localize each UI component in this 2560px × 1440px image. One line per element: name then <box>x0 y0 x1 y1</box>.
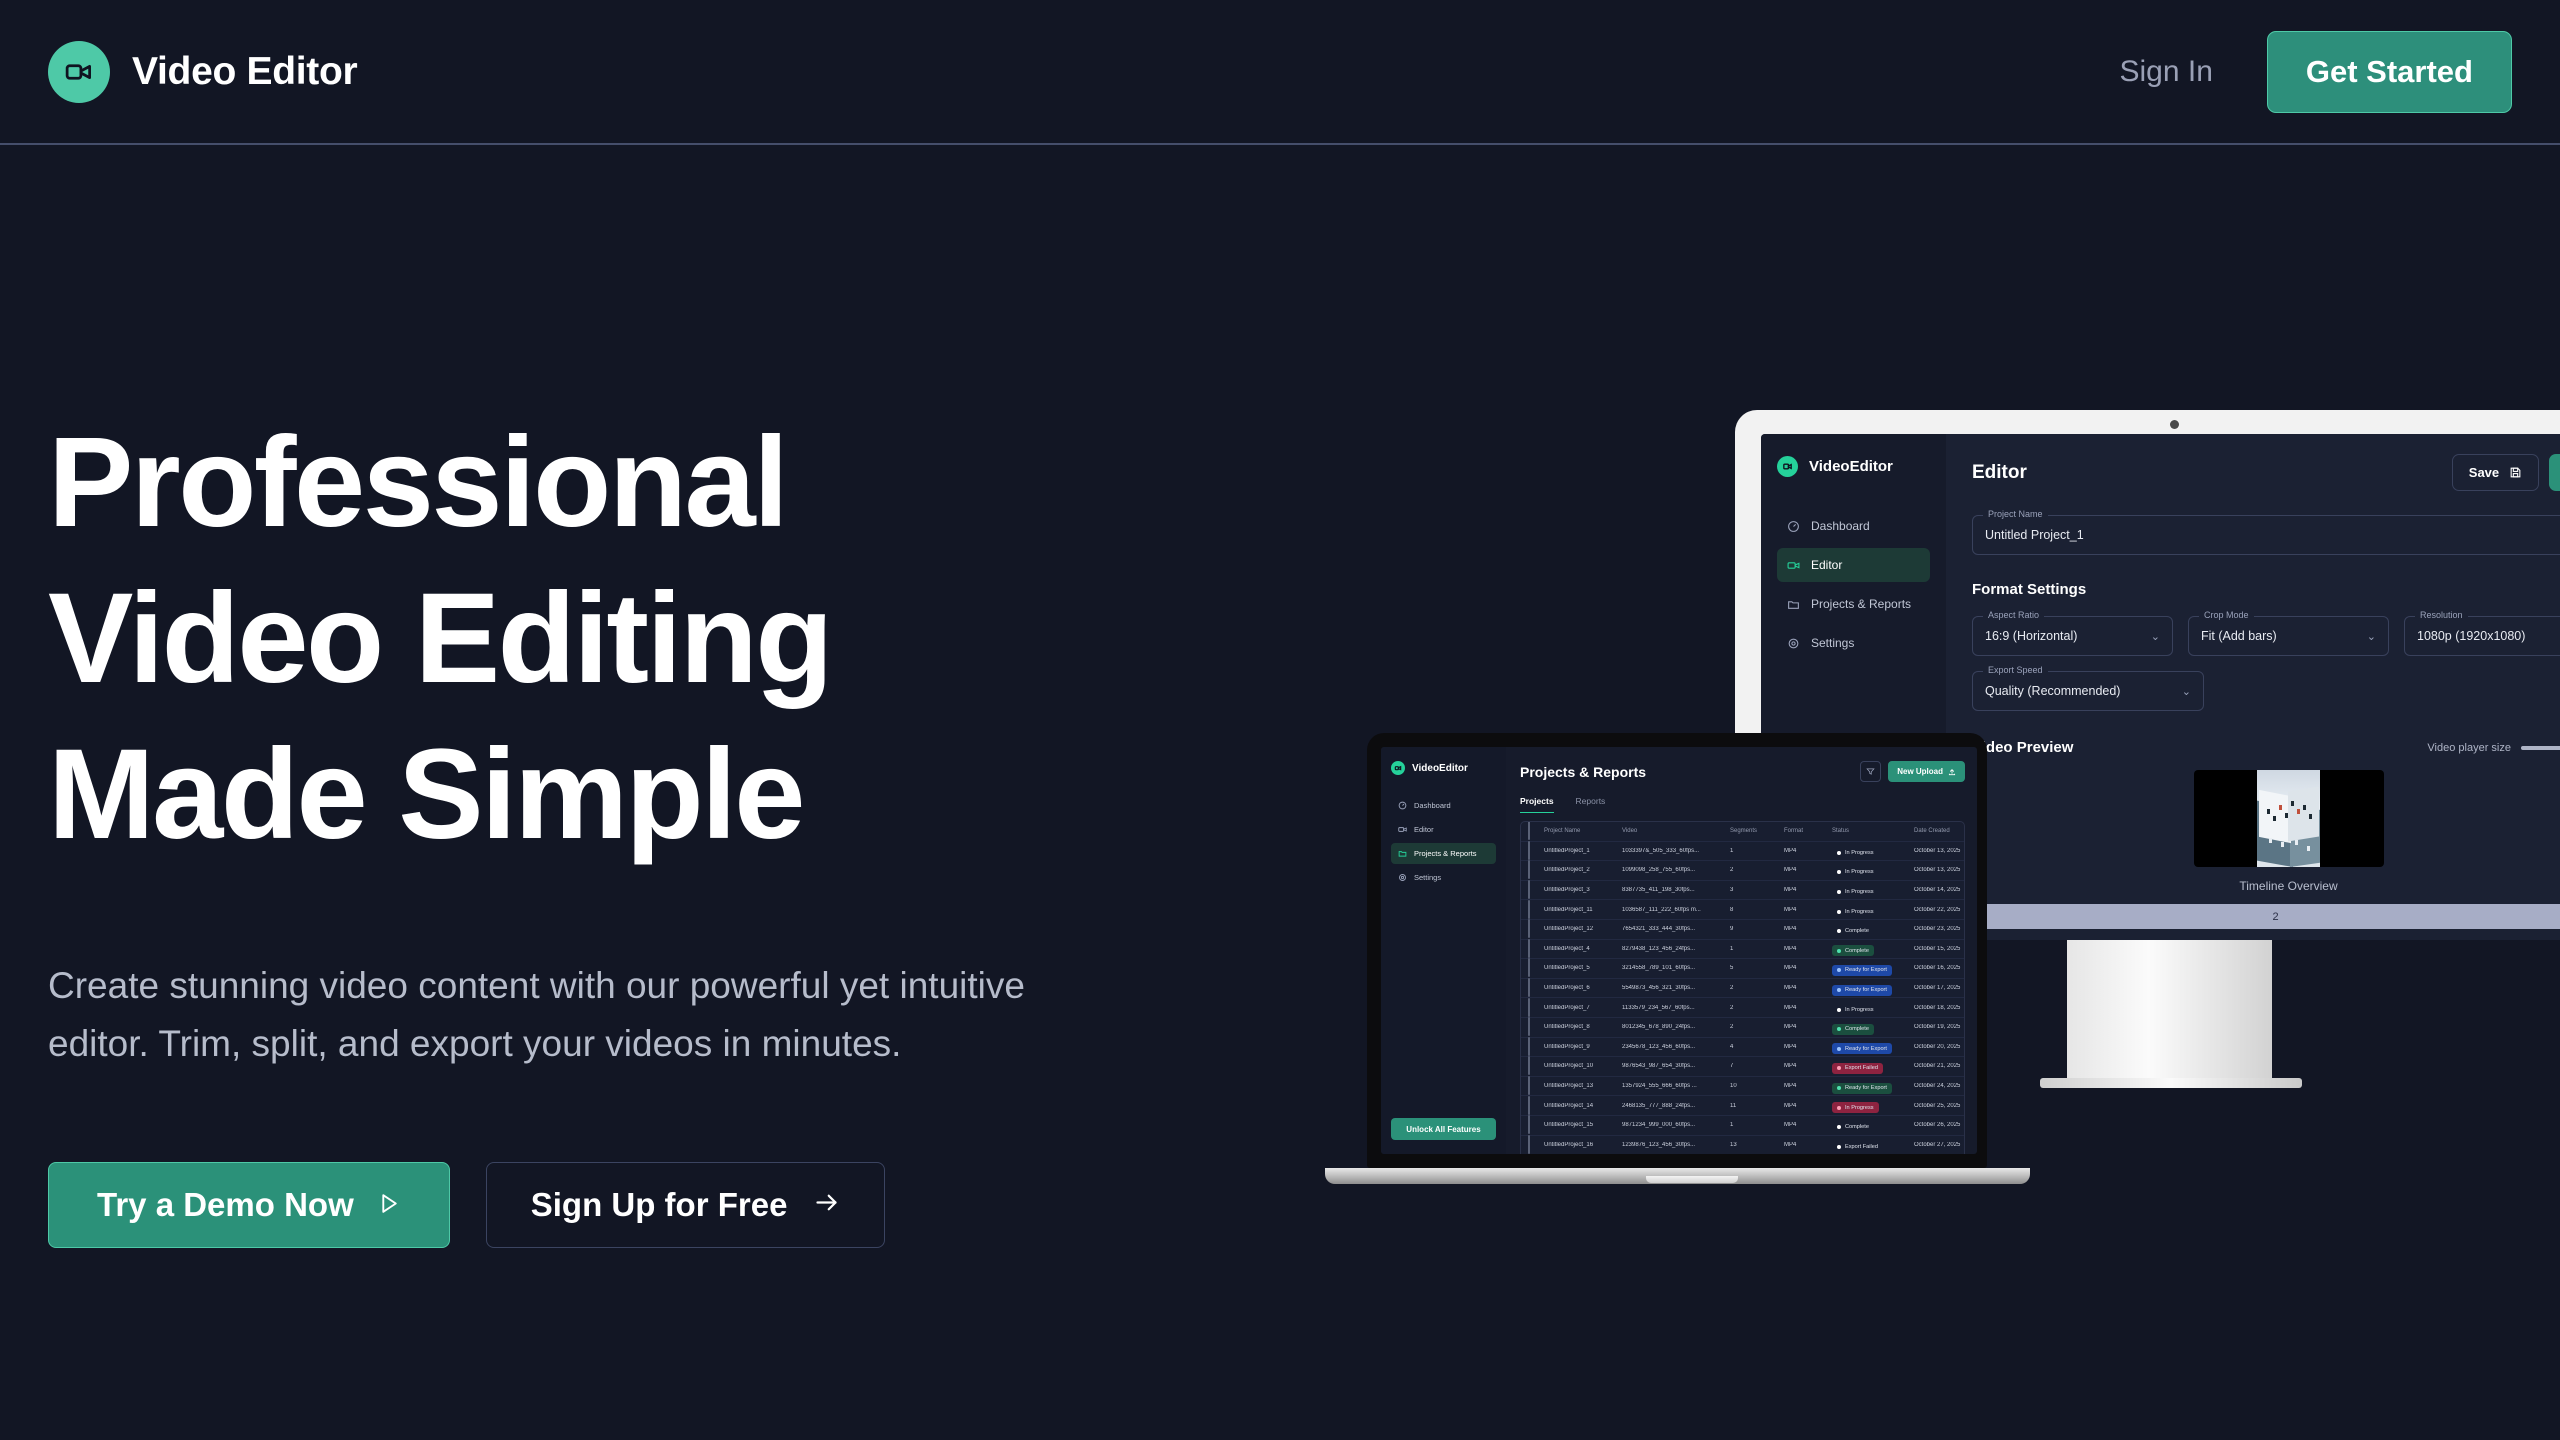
projects-table: Project Name Video Segments Format Statu… <box>1520 821 1965 1154</box>
cell-date-created: October 16, 2025 <box>1914 965 1965 971</box>
cell-video: 7654321_333_444_30fps... <box>1622 926 1730 932</box>
sign-in-button[interactable]: Sign In <box>2119 55 2212 89</box>
projects-tabs: Projects Reports <box>1520 796 1977 813</box>
cell-video: 8279438_123_456_24fps... <box>1622 946 1730 952</box>
cell-video: 2468135_777_888_24fps... <box>1622 1103 1730 1109</box>
crop-mode-value: Fit (Add bars) <box>2201 629 2277 643</box>
status-badge: Export Failed <box>1832 1141 1883 1152</box>
sidebar-label-dashboard: Dashboard <box>1811 519 1870 533</box>
row-checkbox[interactable] <box>1528 860 1530 879</box>
editor-app-name: VideoEditor <box>1809 458 1893 475</box>
unlock-all-features-button[interactable]: Unlock All Features <box>1391 1118 1496 1140</box>
cell-status: In Progress <box>1832 1097 1914 1115</box>
chevron-down-icon: ⌄ <box>2367 630 2376 643</box>
cell-project-name: UntitledProject_1 <box>1544 848 1622 854</box>
column-header-date-created[interactable]: Date Created <box>1914 828 1965 834</box>
video-icon <box>1787 559 1800 572</box>
cell-segments: 8 <box>1730 907 1784 913</box>
row-checkbox[interactable] <box>1528 1037 1530 1056</box>
folder-icon <box>1787 598 1800 611</box>
cell-date-created: October 21, 2025 <box>1914 1063 1965 1069</box>
row-checkbox[interactable] <box>1528 1135 1530 1154</box>
project-name-label: Project Name <box>1983 509 2048 519</box>
column-header-status[interactable]: Status <box>1832 828 1914 834</box>
table-row[interactable]: UntitledProject_88012345_678_890_24fps..… <box>1521 1018 1964 1038</box>
projects-sidebar: VideoEditor Dashboard Editor <box>1381 747 1506 1154</box>
status-badge: Complete <box>1832 1024 1874 1035</box>
cell-segments: 4 <box>1730 1044 1784 1050</box>
tab-projects[interactable]: Projects <box>1520 796 1554 813</box>
row-checkbox[interactable] <box>1528 900 1530 919</box>
export-button[interactable]: Exp <box>2549 454 2560 491</box>
sidebar-label-settings: Settings <box>1811 636 1854 650</box>
cell-project-name: UntitledProject_8 <box>1544 1024 1622 1030</box>
preview-thumbnail-image <box>2257 770 2320 867</box>
cell-format: MP4 <box>1784 907 1832 913</box>
cell-format: MP4 <box>1784 1083 1832 1089</box>
cell-date-created: October 26, 2025 <box>1914 1122 1965 1128</box>
crop-mode-select[interactable]: Crop Mode Fit (Add bars) ⌄ <box>2188 616 2389 656</box>
row-checkbox[interactable] <box>1528 958 1530 977</box>
video-camera-icon <box>1391 761 1405 775</box>
table-row[interactable]: UntitledProject_142468135_777_888_24fps.… <box>1521 1096 1964 1116</box>
cell-status: Complete <box>1832 1116 1914 1134</box>
video-player[interactable] <box>2194 770 2384 867</box>
cell-format: MP4 <box>1784 1122 1832 1128</box>
editor-header: Editor Save Exp <box>1972 454 2560 491</box>
cell-format: MP4 <box>1784 848 1832 854</box>
gear-icon <box>1398 873 1407 882</box>
cell-status: Export Failed <box>1832 1057 1914 1075</box>
cell-video: 1133579_234_567_60fps... <box>1622 1005 1730 1011</box>
cell-project-name: UntitledProject_3 <box>1544 887 1622 893</box>
status-badge: Complete <box>1832 945 1874 956</box>
video-player-size-control[interactable]: Video player size <box>2427 742 2560 754</box>
cell-status: In Progress <box>1832 901 1914 919</box>
cell-status: Ready for Export <box>1832 1077 1914 1095</box>
cell-project-name: UntitledProject_12 <box>1544 926 1622 932</box>
status-badge: Complete <box>1832 1122 1874 1133</box>
cell-format: MP4 <box>1784 1044 1832 1050</box>
cell-segments: 2 <box>1730 1024 1784 1030</box>
laptop-screen: VideoEditor Dashboard Editor <box>1381 747 1977 1154</box>
cell-project-name: UntitledProject_2 <box>1544 867 1622 873</box>
cell-date-created: October 20, 2025 <box>1914 1044 1965 1050</box>
column-header-video[interactable]: Video <box>1622 828 1730 834</box>
cell-format: MP4 <box>1784 887 1832 893</box>
cell-status: Complete <box>1832 940 1914 958</box>
table-row[interactable]: UntitledProject_21099098_258_755_60fps..… <box>1521 861 1964 881</box>
editor-app-brand[interactable]: VideoEditor <box>1777 456 1930 477</box>
sidebar-item-editor[interactable]: Editor <box>1777 548 1930 582</box>
projects-header-actions: New Upload <box>1860 761 1965 782</box>
monitor-stand-neck <box>2067 940 2272 1085</box>
status-badge: Complete <box>1832 926 1874 937</box>
cell-project-name: UntitledProject_5 <box>1544 965 1622 971</box>
crop-mode-label: Crop Mode <box>2199 610 2254 620</box>
cell-date-created: October 25, 2025 <box>1914 1103 1965 1109</box>
get-started-button[interactable]: Get Started <box>2267 31 2512 113</box>
video-player-size-slider[interactable] <box>2521 746 2560 750</box>
cell-status: Complete <box>1832 1018 1914 1036</box>
select-all-checkbox[interactable] <box>1528 821 1530 840</box>
cell-video: 1099098_258_755_60fps... <box>1622 867 1730 873</box>
cell-status: In Progress <box>1832 842 1914 860</box>
status-badge: In Progress <box>1832 867 1879 878</box>
status-badge: Export Failed <box>1832 1063 1883 1074</box>
cell-video: 2345678_123_456_60fps... <box>1622 1044 1730 1050</box>
cell-date-created: October 14, 2025 <box>1914 887 1965 893</box>
video-camera-icon <box>48 41 110 103</box>
laptop-sidebar-item-editor[interactable]: Editor <box>1391 819 1496 840</box>
export-speed-value: Quality (Recommended) <box>1985 684 2120 698</box>
cell-segments: 1 <box>1730 848 1784 854</box>
cell-segments: 7 <box>1730 1063 1784 1069</box>
sidebar-item-dashboard[interactable]: Dashboard <box>1777 509 1930 543</box>
resolution-value: 1080p (1920x1080) <box>2417 629 2525 643</box>
cell-date-created: October 27, 2025 <box>1914 1142 1965 1148</box>
save-button[interactable]: Save <box>2452 454 2539 491</box>
laptop-sidebar-label-editor: Editor <box>1414 825 1434 834</box>
laptop-sidebar-item-dashboard[interactable]: Dashboard <box>1391 795 1496 816</box>
new-upload-button[interactable]: New Upload <box>1888 761 1965 782</box>
format-settings-row-1: Aspect Ratio 16:9 (Horizontal) ⌄ Crop Mo… <box>1972 598 2560 656</box>
cell-project-name: UntitledProject_13 <box>1544 1083 1622 1089</box>
table-row[interactable]: UntitledProject_127654321_333_444_30fps.… <box>1521 920 1964 940</box>
cell-date-created: October 22, 2025 <box>1914 907 1965 913</box>
table-row[interactable]: UntitledProject_111036587_111_222_60fps … <box>1521 900 1964 920</box>
cell-format: MP4 <box>1784 985 1832 991</box>
format-settings-row-2: Export Speed Quality (Recommended) ⌄ <box>1972 656 2560 711</box>
column-header-segments[interactable]: Segments <box>1730 828 1784 834</box>
video-player-size-label: Video player size <box>2427 742 2511 754</box>
cell-format: MP4 <box>1784 1103 1832 1109</box>
cell-date-created: October 13, 2025 <box>1914 867 1965 873</box>
nav-actions: Sign In Get Started <box>2119 31 2512 113</box>
projects-app-name: VideoEditor <box>1412 763 1468 774</box>
row-checkbox[interactable] <box>1528 978 1530 997</box>
new-upload-label: New Upload <box>1897 767 1943 776</box>
cell-status: Complete <box>1832 920 1914 938</box>
cell-project-name: UntitledProject_9 <box>1544 1044 1622 1050</box>
cell-segments: 2 <box>1730 1005 1784 1011</box>
export-speed-select[interactable]: Export Speed Quality (Recommended) ⌄ <box>1972 671 2204 711</box>
projects-app-brand[interactable]: VideoEditor <box>1391 761 1496 775</box>
status-badge: In Progress <box>1832 887 1879 898</box>
cell-format: MP4 <box>1784 926 1832 932</box>
cell-format: MP4 <box>1784 1005 1832 1011</box>
cell-video: 8387735_411_198_30fps... <box>1622 887 1730 893</box>
cell-segments: 2 <box>1730 867 1784 873</box>
cell-status: Ready for Export <box>1832 1038 1914 1056</box>
gauge-icon <box>1787 520 1800 533</box>
editor-main-panel: Editor Save Exp Project Name <box>1946 434 2560 940</box>
column-header-project-name[interactable]: Project Name <box>1544 828 1622 834</box>
projects-main-panel: Projects & Reports New Upload <box>1506 747 1977 1154</box>
cell-project-name: UntitledProject_16 <box>1544 1142 1622 1148</box>
cell-video: 5549873_456_321_30fps... <box>1622 985 1730 991</box>
aspect-ratio-select[interactable]: Aspect Ratio 16:9 (Horizontal) ⌄ <box>1972 616 2173 656</box>
laptop-lid: VideoEditor Dashboard Editor <box>1367 733 1987 1168</box>
sidebar-label-projects: Projects & Reports <box>1811 597 1911 611</box>
projects-header: Projects & Reports New Upload <box>1520 761 1977 782</box>
cell-video: 8012345_678_890_24fps... <box>1622 1024 1730 1030</box>
upload-icon <box>1948 768 1956 776</box>
resolution-select[interactable]: Resolution 1080p (1920x1080) ⌄ <box>2404 616 2560 656</box>
row-checkbox[interactable] <box>1528 919 1530 938</box>
row-checkbox[interactable] <box>1528 1076 1530 1095</box>
cell-segments: 5 <box>1730 965 1784 971</box>
sidebar-item-settings[interactable]: Settings <box>1777 626 1930 660</box>
laptop-sidebar-label-dashboard: Dashboard <box>1414 801 1451 810</box>
cell-format: MP4 <box>1784 1142 1832 1148</box>
sidebar-item-projects-reports[interactable]: Projects & Reports <box>1777 587 1930 621</box>
status-badge: In Progress <box>1832 1004 1879 1015</box>
cell-project-name: UntitledProject_10 <box>1544 1063 1622 1069</box>
status-badge: In Progress <box>1832 847 1879 858</box>
column-header-format[interactable]: Format <box>1784 828 1832 834</box>
table-row[interactable]: UntitledProject_53214558_789_101_60fps..… <box>1521 959 1964 979</box>
aspect-ratio-value: 16:9 (Horizontal) <box>1985 629 2077 643</box>
cell-date-created: October 17, 2025 <box>1914 985 1965 991</box>
project-name-value: Untitled Project_1 <box>1985 528 2084 542</box>
cell-project-name: UntitledProject_7 <box>1544 1005 1622 1011</box>
editor-sidebar-nav: Dashboard Editor Projects & Reports <box>1777 509 1930 660</box>
cell-status: In Progress <box>1832 861 1914 879</box>
table-row[interactable]: UntitledProject_92345678_123_456_60fps..… <box>1521 1038 1964 1058</box>
table-row[interactable]: UntitledProject_65549873_456_321_30fps..… <box>1521 979 1964 999</box>
export-speed-label: Export Speed <box>1983 665 2048 675</box>
table-row[interactable]: UntitledProject_161239876_123_456_30fps.… <box>1521 1136 1964 1155</box>
video-camera-icon <box>1777 456 1798 477</box>
cell-date-created: October 18, 2025 <box>1914 1005 1965 1011</box>
video-preview-title: Video Preview <box>1972 739 2073 756</box>
table-header-row: Project Name Video Segments Format Statu… <box>1521 822 1964 842</box>
folder-icon <box>1398 849 1407 858</box>
video-preview-header: Video Preview Video player size <box>1972 739 2560 756</box>
cell-project-name: UntitledProject_14 <box>1544 1103 1622 1109</box>
cell-date-created: October 19, 2025 <box>1914 1024 1965 1030</box>
cell-video: 3214558_789_101_60fps... <box>1622 965 1730 971</box>
video-icon <box>1398 825 1407 834</box>
row-checkbox[interactable] <box>1528 880 1530 899</box>
row-checkbox[interactable] <box>1528 1096 1530 1115</box>
monitor-camera-dot <box>2170 420 2179 429</box>
gear-icon <box>1787 637 1800 650</box>
cell-date-created: October 15, 2025 <box>1914 946 1965 952</box>
monitor-stand-foot <box>2040 1078 2302 1088</box>
cell-format: MP4 <box>1784 965 1832 971</box>
table-row[interactable]: UntitledProject_71133579_234_567_60fps..… <box>1521 998 1964 1018</box>
laptop-mockup: VideoEditor Dashboard Editor <box>1367 733 1987 1168</box>
table-row[interactable]: UntitledProject_48279438_123_456_24fps..… <box>1521 940 1964 960</box>
status-badge: In Progress <box>1832 906 1879 917</box>
format-settings-title: Format Settings <box>1972 581 2560 598</box>
cell-date-created: October 13, 2025 <box>1914 848 1965 854</box>
save-label: Save <box>2469 465 2499 480</box>
cell-video: 9871234_999_000_60fps... <box>1622 1122 1730 1128</box>
cell-format: MP4 <box>1784 1063 1832 1069</box>
status-badge: Ready for Export <box>1832 965 1892 976</box>
resolution-label: Resolution <box>2415 610 2468 620</box>
cell-project-name: UntitledProject_6 <box>1544 985 1622 991</box>
laptop-sidebar-item-settings[interactable]: Settings <box>1391 867 1496 888</box>
cell-format: MP4 <box>1784 1024 1832 1030</box>
video-preview-area <box>1972 770 2560 867</box>
cell-segments: 13 <box>1730 1142 1784 1148</box>
row-checkbox[interactable] <box>1528 1056 1530 1075</box>
cell-segments: 9 <box>1730 926 1784 932</box>
cell-segments: 1 <box>1730 1122 1784 1128</box>
filter-icon <box>1866 767 1875 776</box>
project-name-field[interactable]: Project Name Untitled Project_1 <box>1972 515 2560 555</box>
cell-segments: 3 <box>1730 887 1784 893</box>
laptop-sidebar-label-settings: Settings <box>1414 873 1441 882</box>
cell-segments: 2 <box>1730 985 1784 991</box>
timeline-overview-label: Timeline Overview <box>1972 879 2560 893</box>
cell-video: 1239876_123_456_30fps... <box>1622 1142 1730 1148</box>
cell-format: MP4 <box>1784 946 1832 952</box>
status-badge: Ready for Export <box>1832 1083 1892 1094</box>
cell-status: Export Failed <box>1832 1136 1914 1154</box>
timeline-bar[interactable]: 2 <box>1946 904 2560 929</box>
gauge-icon <box>1398 801 1407 810</box>
floppy-disk-icon <box>2509 466 2522 479</box>
top-navigation-bar: Video Editor Sign In Get Started <box>0 0 2560 145</box>
cell-video: 1033397&_505_333_60fps... <box>1622 848 1730 854</box>
cell-segments: 10 <box>1730 1083 1784 1089</box>
cell-status: In Progress <box>1832 999 1914 1017</box>
chevron-down-icon: ⌄ <box>2182 685 2191 698</box>
cell-project-name: UntitledProject_4 <box>1544 946 1622 952</box>
row-checkbox[interactable] <box>1528 939 1530 958</box>
cell-video: 1036587_111_222_60fps m... <box>1622 907 1730 913</box>
cell-project-name: UntitledProject_15 <box>1544 1122 1622 1128</box>
laptop-sidebar-item-projects-reports[interactable]: Projects & Reports <box>1391 843 1496 864</box>
projects-sidebar-nav: Dashboard Editor Projects & Reports <box>1391 795 1496 888</box>
editor-page-title: Editor <box>1972 462 2027 484</box>
cell-format: MP4 <box>1784 867 1832 873</box>
table-row[interactable]: UntitledProject_11033397&_505_333_60fps.… <box>1521 842 1964 862</box>
table-row[interactable]: UntitledProject_159871234_999_000_60fps.… <box>1521 1116 1964 1136</box>
sidebar-label-editor: Editor <box>1811 558 1842 572</box>
cell-segments: 11 <box>1730 1103 1784 1109</box>
row-checkbox[interactable] <box>1528 1017 1530 1036</box>
laptop-trackpad-notch <box>1646 1176 1738 1183</box>
table-row[interactable]: UntitledProject_38387735_411_198_30fps..… <box>1521 881 1964 901</box>
cell-status: Ready for Export <box>1832 959 1914 977</box>
row-checkbox[interactable] <box>1528 1115 1530 1134</box>
brand-logo[interactable]: Video Editor <box>48 41 357 103</box>
row-checkbox[interactable] <box>1528 998 1530 1017</box>
cell-date-created: October 23, 2025 <box>1914 926 1965 932</box>
laptop-sidebar-label-projects: Projects & Reports <box>1414 849 1477 858</box>
status-badge: In Progress <box>1832 1102 1879 1113</box>
editor-header-actions: Save Exp <box>2452 454 2560 491</box>
product-mockups: VideoEditor Dashboard Editor <box>0 0 2560 1440</box>
cell-video: 9876543_987_654_30fps... <box>1622 1063 1730 1069</box>
cell-segments: 1 <box>1730 946 1784 952</box>
status-badge: Ready for Export <box>1832 1043 1892 1054</box>
timeline-value: 2 <box>2272 911 2278 923</box>
status-badge: Ready for Export <box>1832 985 1892 996</box>
aspect-ratio-label: Aspect Ratio <box>1983 610 2044 620</box>
cell-video: 1357924_555_666_60fps ... <box>1622 1083 1730 1089</box>
cell-status: Ready for Export <box>1832 979 1914 997</box>
projects-page-title: Projects & Reports <box>1520 764 1646 780</box>
tab-reports[interactable]: Reports <box>1576 796 1606 813</box>
table-row[interactable]: UntitledProject_131357924_555_666_60fps … <box>1521 1077 1964 1097</box>
chevron-down-icon: ⌄ <box>2151 630 2160 643</box>
brand-name: Video Editor <box>132 50 357 94</box>
row-checkbox[interactable] <box>1528 841 1530 860</box>
table-row[interactable]: UntitledProject_109876543_987_654_30fps.… <box>1521 1057 1964 1077</box>
filter-button[interactable] <box>1860 761 1881 782</box>
cell-date-created: October 24, 2025 <box>1914 1083 1965 1089</box>
cell-project-name: UntitledProject_11 <box>1544 907 1622 913</box>
cell-status: In Progress <box>1832 881 1914 899</box>
